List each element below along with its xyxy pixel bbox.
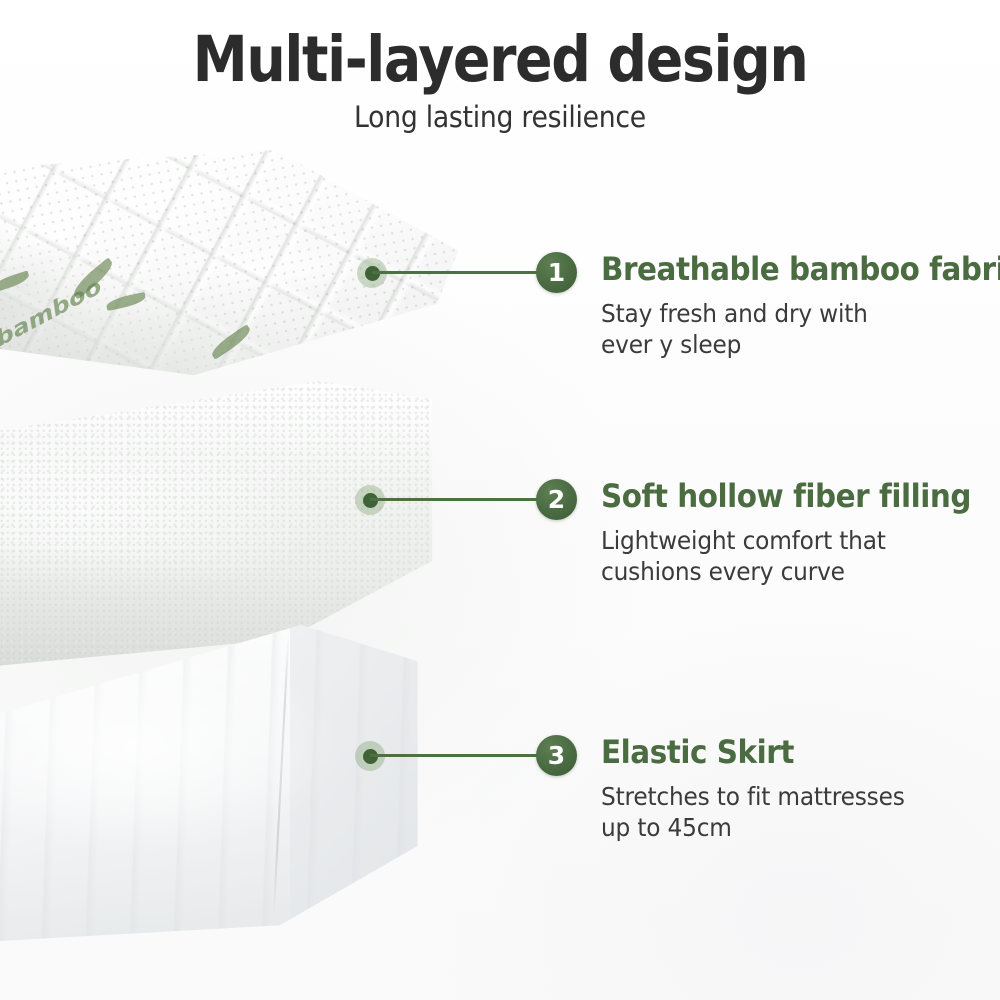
callout-body-2: Lightweight comfort that cushions every … xyxy=(601,525,968,588)
page-subtitle: Long lasting resilience xyxy=(40,100,960,134)
quilted-bamboo-top-layer: bamboo bamboo xyxy=(0,150,480,415)
callout-connector-line-3 xyxy=(370,754,540,757)
callout-heading-2: Soft hollow fiber filling xyxy=(601,479,964,514)
callout-number-2: 2 xyxy=(548,487,565,512)
header: Multi-layered design Long lasting resili… xyxy=(0,28,1000,134)
callout-heading-3: Elastic Skirt xyxy=(601,735,964,770)
callout-text-2: Soft hollow fiber filling Lightweight co… xyxy=(601,479,996,588)
callout-number-badge-3[interactable]: 3 xyxy=(536,735,577,776)
callout-connector-line-1 xyxy=(372,271,540,274)
callout-body-1: Stay fresh and dry with ever y sleep xyxy=(601,298,968,361)
elastic-skirt-base-layer xyxy=(0,615,460,945)
callout-text-1: Breathable bamboo fabric Stay fresh and … xyxy=(601,252,996,361)
callout-number-badge-2[interactable]: 2 xyxy=(536,479,577,520)
callout-number-3: 3 xyxy=(548,743,565,768)
callout-text-3: Elastic Skirt Stretches to fit mattresse… xyxy=(601,735,996,844)
callout-body-3: Stretches to fit mattresses up to 45cm xyxy=(601,781,968,844)
callout-number-1: 1 xyxy=(548,260,565,285)
page-title: Multi-layered design xyxy=(60,28,940,92)
skirt-highlight xyxy=(0,615,460,945)
callout-number-badge-1[interactable]: 1 xyxy=(536,252,577,293)
infographic-canvas: Multi-layered design Long lasting resili… xyxy=(0,0,1000,1000)
product-layer-stack-image: bamboo bamboo xyxy=(0,150,540,940)
hollow-fiber-filling-layer xyxy=(0,375,470,675)
top-layer-edge-shading xyxy=(0,150,480,415)
callout-heading-1: Breathable bamboo fabric xyxy=(601,252,964,287)
callout-connector-line-2 xyxy=(370,498,540,501)
